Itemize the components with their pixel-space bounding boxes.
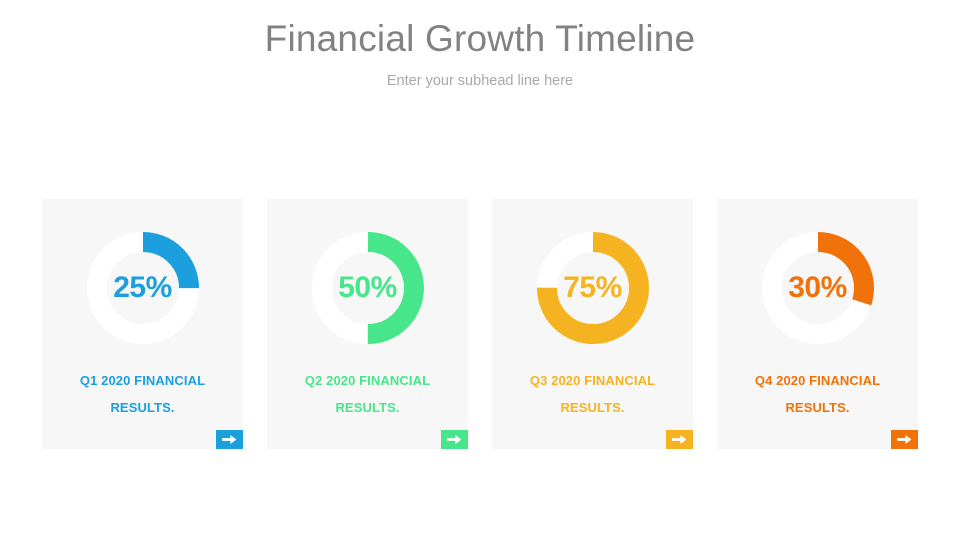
kpi-card-q2[interactable]: 50% Q2 2020 FINANCIAL RESULTS. (267, 199, 468, 449)
card-caption: Q3 2020 FINANCIAL RESULTS. (504, 367, 681, 421)
next-button-q3[interactable] (666, 430, 693, 449)
next-button-q2[interactable] (441, 430, 468, 449)
donut-percent-label: 25% (87, 232, 199, 344)
arrow-right-icon (222, 434, 237, 445)
kpi-card-row: 25% Q1 2020 FINANCIAL RESULTS. 50% Q (42, 199, 918, 449)
slide: Financial Growth Timeline Enter your sub… (0, 0, 960, 540)
slide-header: Financial Growth Timeline Enter your sub… (0, 16, 960, 91)
donut-percent-label: 30% (762, 232, 874, 344)
donut-chart-q2: 50% (312, 232, 424, 344)
arrow-right-icon (672, 434, 687, 445)
kpi-card-q1[interactable]: 25% Q1 2020 FINANCIAL RESULTS. (42, 199, 243, 449)
donut-chart-q4: 30% (762, 232, 874, 344)
card-caption: Q2 2020 FINANCIAL RESULTS. (279, 367, 456, 421)
card-caption: Q4 2020 FINANCIAL RESULTS. (729, 367, 906, 421)
arrow-right-icon (897, 434, 912, 445)
kpi-card-q3[interactable]: 75% Q3 2020 FINANCIAL RESULTS. (492, 199, 693, 449)
donut-chart-q3: 75% (537, 232, 649, 344)
donut-percent-label: 50% (312, 232, 424, 344)
page-title: Financial Growth Timeline (0, 16, 960, 62)
next-button-q1[interactable] (216, 430, 243, 449)
arrow-right-icon (447, 434, 462, 445)
donut-percent-label: 75% (537, 232, 649, 344)
next-button-q4[interactable] (891, 430, 918, 449)
page-subtitle: Enter your subhead line here (0, 71, 960, 91)
card-caption: Q1 2020 FINANCIAL RESULTS. (54, 367, 231, 421)
donut-chart-q1: 25% (87, 232, 199, 344)
kpi-card-q4[interactable]: 30% Q4 2020 FINANCIAL RESULTS. (717, 199, 918, 449)
